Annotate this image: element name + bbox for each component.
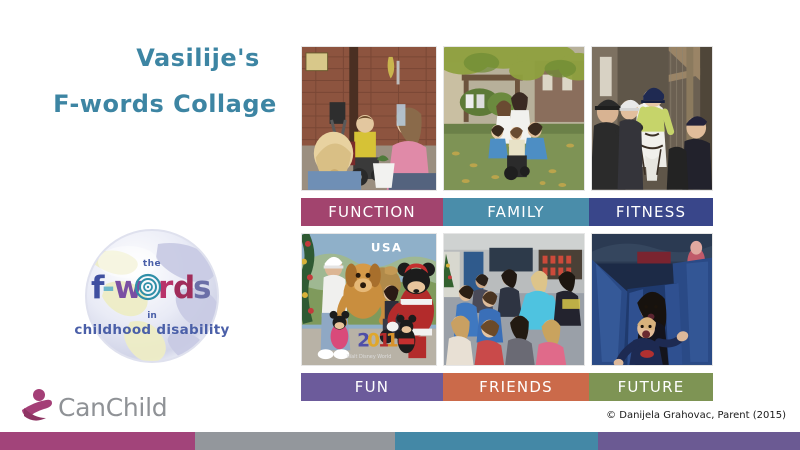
f-words-globe-logo: the f - w r d s in childhood disability	[62, 226, 242, 366]
photo-function	[301, 46, 437, 191]
strip-segment-magenta	[0, 432, 195, 450]
canchild-wordmark: CanChild	[58, 393, 167, 422]
label-row-1: FUNCTION FAMILY FITNESS	[301, 198, 713, 226]
brand-color-strip	[0, 432, 800, 450]
svg-text:USA: USA	[371, 241, 403, 255]
copyright-credit: © Danijela Grahovac, Parent (2015)	[606, 410, 786, 421]
photo-fun: USA	[301, 233, 437, 366]
svg-text:in: in	[147, 311, 157, 321]
photo-future	[591, 233, 713, 366]
svg-text:1: 1	[386, 330, 399, 351]
label-function: FUNCTION	[301, 198, 443, 226]
canchild-logo: CanChild	[20, 388, 167, 427]
photo-fitness	[591, 46, 713, 191]
label-family: FAMILY	[443, 198, 589, 226]
canchild-person-icon	[20, 388, 54, 427]
strip-segment-purple	[598, 432, 800, 450]
label-future-text: FUTURE	[618, 378, 685, 396]
label-friends-text: FRIENDS	[479, 378, 553, 396]
slide-canvas: Vasilije's F-words Collage	[0, 0, 800, 450]
label-fun-text: FUN	[355, 378, 389, 396]
label-friends: FRIENDS	[443, 373, 589, 401]
svg-text:-: -	[102, 270, 115, 306]
svg-text:d: d	[173, 270, 195, 306]
photo-row-1	[301, 46, 713, 191]
label-function-text: FUNCTION	[328, 203, 416, 221]
label-future: FUTURE	[589, 373, 713, 401]
svg-text:the: the	[143, 259, 161, 269]
svg-text:childhood disability: childhood disability	[74, 322, 229, 338]
photo-family	[443, 46, 585, 191]
label-row-2: FUN FRIENDS FUTURE	[301, 373, 713, 401]
label-fun: FUN	[301, 373, 443, 401]
photo-row-2: USA	[301, 233, 713, 366]
title-line-1: Vasilije's	[106, 46, 290, 70]
page-title: Vasilije's F-words Collage	[40, 46, 290, 116]
svg-text:s: s	[193, 270, 211, 306]
svg-text:w: w	[114, 270, 143, 306]
label-fitness-text: FITNESS	[616, 203, 686, 221]
strip-segment-grey	[195, 432, 395, 450]
svg-text:Walt Disney World: Walt Disney World	[347, 354, 392, 360]
title-line-2: F-words Collage	[40, 92, 290, 116]
photo-collage: FUNCTION FAMILY FITNESS USA	[301, 46, 713, 408]
photo-friends	[443, 233, 585, 366]
strip-segment-teal	[395, 432, 598, 450]
label-family-text: FAMILY	[487, 203, 545, 221]
label-fitness: FITNESS	[589, 198, 713, 226]
